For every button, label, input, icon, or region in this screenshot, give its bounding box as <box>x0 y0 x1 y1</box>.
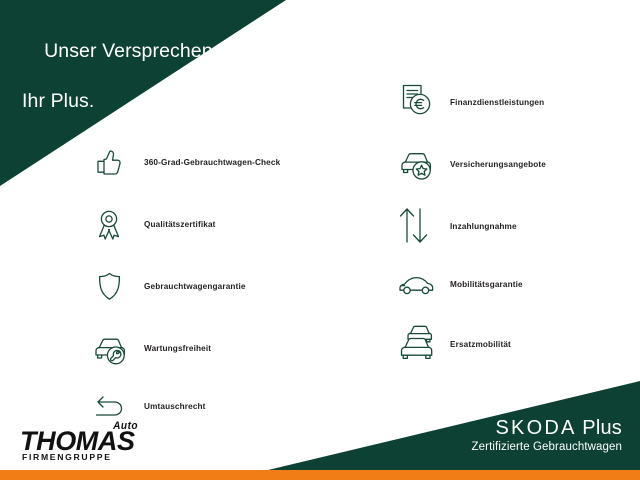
car-star-icon <box>396 140 450 188</box>
brand-name: SKODA <box>496 417 577 439</box>
feature-item-quality-certificate: Qualitätszertifikat <box>90 198 330 250</box>
award-rosette-icon <box>90 200 144 248</box>
feature-label: Gebrauchtwagengarantie <box>144 281 246 292</box>
headline-line-2: Ihr Plus. <box>22 89 218 114</box>
feature-label: 360-Grad-Gebrauchtwagen-Check <box>144 157 280 168</box>
brand-tagline: Zertifizierte Gebrauchtwagen <box>472 440 622 455</box>
shield-icon <box>90 262 144 310</box>
feature-list-left: 360-Grad-Gebrauchtwagen-Check Qualitätsz… <box>90 136 330 440</box>
feature-item-replacement-mobility: Ersatzmobilität <box>396 318 636 370</box>
feature-label: Qualitätszertifikat <box>144 219 216 230</box>
two-cars-icon <box>396 320 450 368</box>
brand-title-row: SKODA Plus <box>472 416 622 440</box>
feature-item-mobility-guarantee: Mobilitätsgarantie <box>396 262 636 306</box>
car-wrench-icon <box>90 324 144 372</box>
feature-item-trade-in: Inzahlungnahme <box>396 200 636 252</box>
feature-item-maintenance-free: Wartungsfreiheit <box>90 322 330 374</box>
feature-label: Finanzdienstleistungen <box>450 97 544 108</box>
brand-lockup: SKODA Plus Zertifizierte Gebrauchtwagen <box>472 416 622 455</box>
feature-item-insurance-offers: Versicherungsangebote <box>396 138 636 190</box>
feature-item-360-check: 360-Grad-Gebrauchtwagen-Check <box>90 136 330 188</box>
feature-item-financial-services: Finanzdienstleistungen <box>396 76 636 128</box>
dealer-logo: Auto THOMAS FIRMENGRUPPE <box>20 420 140 462</box>
brand-plus-word: Plus <box>577 417 622 439</box>
dealer-logo-group: FIRMENGRUPPE <box>22 453 112 462</box>
feature-label: Umtauschrecht <box>144 401 206 412</box>
orange-footer-bar <box>0 470 640 480</box>
up-down-arrows-icon <box>396 202 450 250</box>
feature-label: Inzahlungnahme <box>450 221 517 232</box>
feature-label: Mobilitätsgarantie <box>450 279 523 290</box>
headline-line-1: Unser Versprechen. <box>44 40 218 62</box>
feature-label: Ersatzmobilität <box>450 339 511 350</box>
feature-label: Wartungsfreiheit <box>144 343 211 354</box>
car-side-icon <box>396 260 450 308</box>
thumbs-up-icon <box>90 138 144 186</box>
dealer-logo-name: THOMAS <box>20 428 135 455</box>
feature-item-warranty: Gebrauchtwagengarantie <box>90 260 330 312</box>
promo-banner: Unser Versprechen. Ihr Plus. 360-Grad-Ge… <box>0 0 640 480</box>
feature-list-right: Finanzdienstleistungen Versicherungsange… <box>396 76 636 380</box>
document-euro-icon <box>396 78 450 126</box>
feature-label: Versicherungsangebote <box>450 159 546 170</box>
